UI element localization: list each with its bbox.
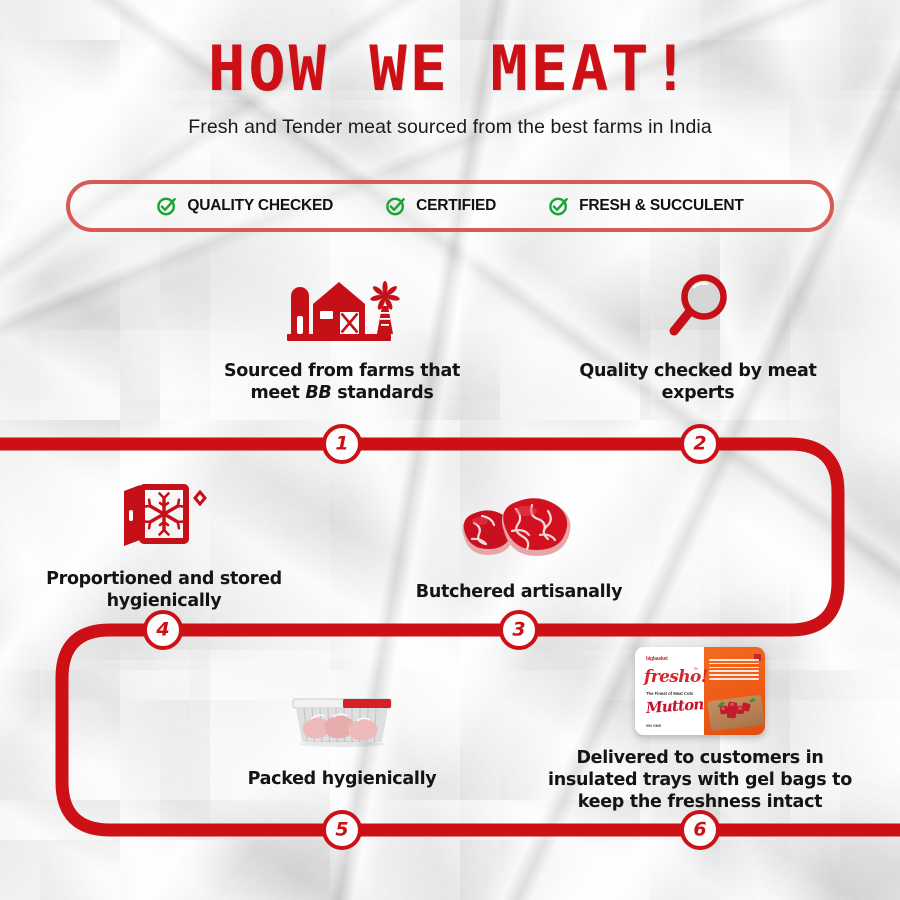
badge-label: QUALITY CHECKED: [187, 197, 333, 215]
page-subtitle: Fresh and Tender meat sourced from the b…: [0, 116, 900, 139]
step-number: 2: [693, 434, 706, 453]
step-caption: Packed hygienically: [222, 768, 462, 790]
trust-badge-bar: QUALITY CHECKED CERTIFIED FRESH & SUCCUL…: [66, 180, 834, 232]
step-number: 4: [156, 620, 169, 639]
page-title: HOW WE MEAT!: [0, 38, 900, 100]
step-icon-wrap: bigbasket fresho! ™ The Finest of Meat C…: [542, 645, 858, 735]
cold-storage-freezer-icon: [114, 482, 214, 554]
caption-post: standards: [331, 383, 433, 403]
caption-line-2: hygienically: [24, 590, 304, 612]
pack-brand-name: fresho!: [644, 667, 708, 687]
header: HOW WE MEAT! Fresh and Tender meat sourc…: [0, 0, 900, 139]
check-circle-icon: [156, 195, 178, 217]
caption-line-1: Quality checked by meat: [548, 360, 848, 382]
check-circle-icon: [385, 195, 407, 217]
check-circle-icon: [548, 195, 570, 217]
pack-parent-brand: bigbasket: [646, 656, 668, 662]
badge-fresh-succulent: FRESH & SUCCULENT: [548, 195, 744, 217]
badge-label: FRESH & SUCCULENT: [579, 197, 744, 215]
badge-quality-checked: QUALITY CHECKED: [156, 195, 333, 217]
step-3: Butchered artisanally: [383, 495, 655, 603]
step-caption: Butchered artisanally: [383, 581, 655, 603]
farm-barn-icon: [283, 272, 401, 344]
step-icon-wrap: [383, 495, 655, 567]
badge-label: CERTIFIED: [416, 197, 496, 215]
step-number: 3: [512, 620, 525, 639]
caption-line-1: Proportioned and stored: [24, 568, 304, 590]
step-1: Sourced from farms that meet BB standard…: [192, 272, 492, 404]
caption-line-2: meet BB standards: [192, 382, 492, 404]
caption-pre: meet: [250, 383, 305, 403]
packed-container-icon: [287, 692, 397, 750]
caption-line-2: experts: [548, 382, 848, 404]
step-5: Packed hygienically: [222, 690, 462, 790]
caption-line-3: keep the freshness intact: [542, 791, 858, 813]
caption-line-1: Sourced from farms that: [192, 360, 492, 382]
infographic-canvas: HOW WE MEAT! Fresh and Tender meat sourc…: [0, 0, 900, 900]
step-marker-2[interactable]: 2: [680, 424, 720, 464]
step-marker-5[interactable]: 5: [322, 810, 362, 850]
magnifying-glass-icon: [661, 270, 735, 344]
step-caption: Proportioned and stored hygienically: [24, 568, 304, 612]
pack-net-weight: 500 GMS: [646, 724, 661, 728]
step-icon-wrap: [192, 272, 492, 344]
caption-emphasis: BB: [305, 383, 331, 403]
step-marker-1[interactable]: 1: [322, 424, 362, 464]
caption-line-1: Delivered to customers in: [542, 747, 858, 769]
step-caption: Quality checked by meat experts: [548, 360, 848, 404]
step-icon-wrap: [222, 690, 462, 750]
step-caption: Delivered to customers in insulated tray…: [542, 747, 858, 813]
caption-line-1: Butchered artisanally: [383, 581, 655, 603]
caption-line-1: Packed hygienically: [222, 768, 462, 790]
fresho-mutton-pack-icon: bigbasket fresho! ™ The Finest of Meat C…: [635, 647, 765, 735]
step-marker-4[interactable]: 4: [143, 610, 183, 650]
step-number: 5: [335, 820, 348, 839]
step-6: bigbasket fresho! ™ The Finest of Meat C…: [542, 645, 858, 813]
step-2: Quality checked by meat experts: [548, 272, 848, 404]
step-icon-wrap: [24, 482, 304, 554]
step-marker-3[interactable]: 3: [499, 610, 539, 650]
raw-meat-icon: [452, 491, 586, 567]
step-4: Proportioned and stored hygienically: [24, 482, 304, 612]
step-number: 1: [335, 434, 348, 453]
pack-description-lines: [709, 659, 759, 682]
step-caption: Sourced from farms that meet BB standard…: [192, 360, 492, 404]
step-icon-wrap: [548, 272, 848, 344]
step-marker-6[interactable]: 6: [680, 810, 720, 850]
caption-line-2: insulated trays with gel bags to: [542, 769, 858, 791]
pack-trademark-symbol: ™: [693, 667, 698, 673]
pack-meat-cubes-icon: [715, 697, 755, 721]
badge-certified: CERTIFIED: [385, 195, 496, 217]
step-number: 6: [693, 820, 706, 839]
